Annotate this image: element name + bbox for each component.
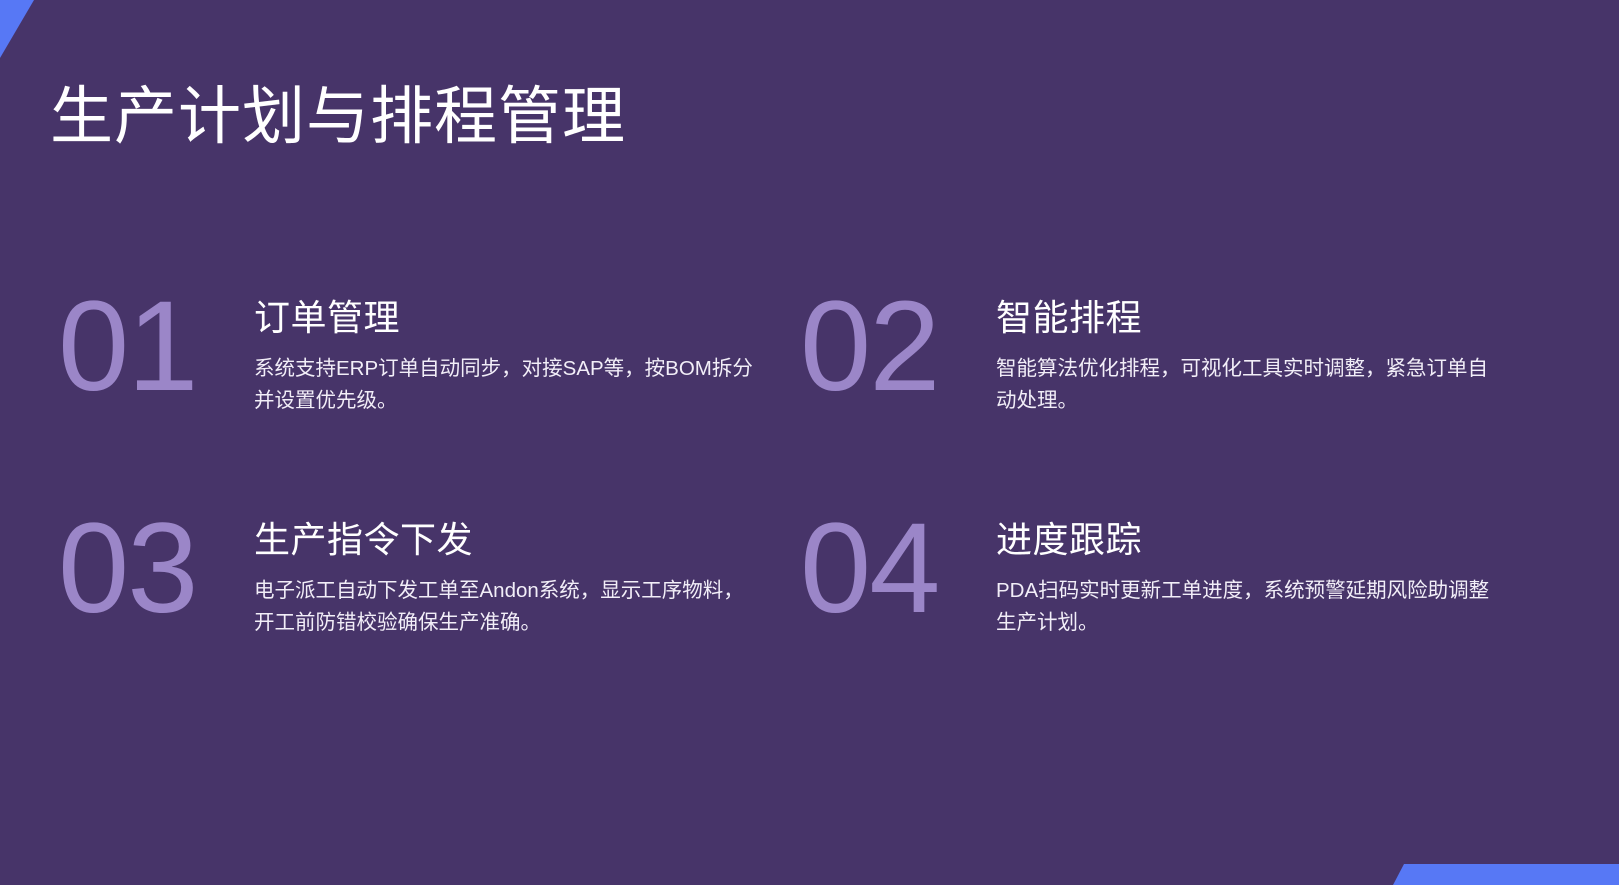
feature-number-02: 02 [800,288,996,406]
feature-item-03: 03 生产指令下发 电子派工自动下发工单至Andon系统，显示工序物料，开工前防… [0,504,790,639]
feature-description-04: PDA扫码实时更新工单进度，系统预警延期风险助调整生产计划。 [996,575,1496,639]
feature-description-01: 系统支持ERP订单自动同步，对接SAP等，按BOM拆分并设置优先级。 [254,353,754,417]
feature-item-01: 01 订单管理 系统支持ERP订单自动同步，对接SAP等，按BOM拆分并设置优先… [0,282,790,504]
feature-body-01: 订单管理 系统支持ERP订单自动同步，对接SAP等，按BOM拆分并设置优先级。 [254,282,774,417]
slide-canvas: 生产计划与排程管理 01 订单管理 系统支持ERP订单自动同步，对接SAP等，按… [0,0,1619,885]
feature-number-03: 03 [58,510,254,628]
feature-item-02: 02 智能排程 智能算法优化排程，可视化工具实时调整，紧急订单自动处理。 [790,282,1580,504]
feature-heading-03: 生产指令下发 [254,518,774,561]
feature-body-02: 智能排程 智能算法优化排程，可视化工具实时调整，紧急订单自动处理。 [996,282,1516,417]
feature-number-01: 01 [58,288,254,406]
feature-item-04: 04 进度跟踪 PDA扫码实时更新工单进度，系统预警延期风险助调整生产计划。 [790,504,1580,639]
feature-description-03: 电子派工自动下发工单至Andon系统，显示工序物料，开工前防错校验确保生产准确。 [254,575,754,639]
feature-body-04: 进度跟踪 PDA扫码实时更新工单进度，系统预警延期风险助调整生产计划。 [996,504,1516,639]
page-title: 生产计划与排程管理 [50,80,626,154]
feature-body-03: 生产指令下发 电子派工自动下发工单至Andon系统，显示工序物料，开工前防错校验… [254,504,774,639]
feature-heading-01: 订单管理 [254,296,774,339]
feature-grid: 01 订单管理 系统支持ERP订单自动同步，对接SAP等，按BOM拆分并设置优先… [0,282,1619,639]
bottom-right-accent-shape [1393,864,1619,885]
feature-heading-02: 智能排程 [996,296,1516,339]
top-left-accent-shape [0,0,34,58]
feature-heading-04: 进度跟踪 [996,518,1516,561]
feature-number-04: 04 [800,510,996,628]
feature-description-02: 智能算法优化排程，可视化工具实时调整，紧急订单自动处理。 [996,353,1496,417]
